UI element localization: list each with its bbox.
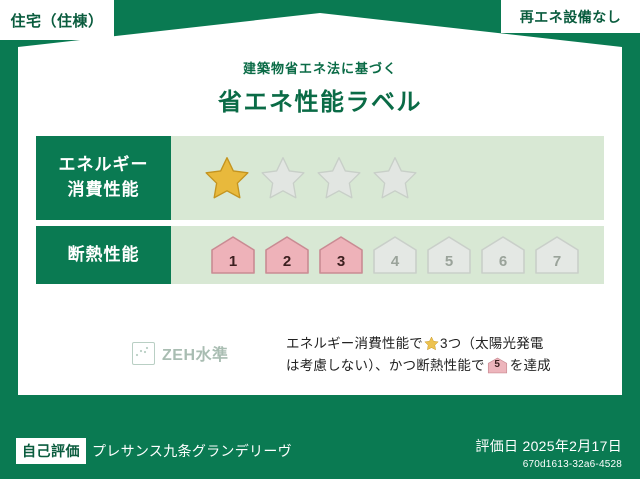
inline-badge-value: 5 [487,357,508,374]
insulation-grade-value: 6 [499,253,507,276]
note-line1-part1: エネルギー消費性能で [286,336,423,351]
note-line2-part1: は考慮しない）、かつ断熱性能で [286,358,485,373]
self-evaluation-badge: 自己評価 [16,438,86,464]
page-title: 省エネ性能ラベル [0,82,640,117]
title-subtitle: 建築物省エネ法に基づく [0,58,640,77]
insulation-grade-badge: 5 [425,234,473,276]
insulation-grade-badge: 4 [371,234,419,276]
evaluation-id: 670d1613-32a6-4528 [475,459,622,470]
insulation-grade-value: 2 [283,253,291,276]
energy-label-line1: エネルギー [59,153,149,178]
zeh-standard-label: ZEH水準 [162,341,229,365]
building-name: プレサンス九条グランデリーヴ [92,441,292,461]
zeh-standard-indicator: ZEH水準 [36,333,272,365]
insulation-grade-value: 7 [553,253,561,276]
star-empty-icon [315,155,363,201]
insulation-performance-label-cell: 断熱性能 [36,226,171,284]
insulation-performance-row: 断熱性能 1234567 [36,226,604,284]
insulation-grade-value: 3 [337,253,345,276]
insulation-label-line1: 断熱性能 [68,243,140,268]
insulation-grade-badge: 3 [317,234,365,276]
insulation-grade-badge: 6 [479,234,527,276]
title-block: 建築物省エネ法に基づく 省エネ性能ラベル [0,58,640,117]
inline-star-icon [424,336,439,351]
insulation-grade-value: 5 [445,253,453,276]
rating-rows: エネルギー 消費性能 断熱性能 1234567 [36,136,604,290]
insulation-grade-badge: 2 [263,234,311,276]
star-empty-icon [259,155,307,201]
evaluation-date: 評価日 2025年2月17日 [475,436,622,456]
insulation-grade-value: 1 [229,253,237,276]
star-filled-icon [203,155,251,201]
footer: 自己評価 プレサンス九条グランデリーヴ 評価日 2025年2月17日 670d1… [0,432,640,479]
energy-performance-label-cell: エネルギー 消費性能 [36,136,171,220]
note-line1-part2: 3つ（太陽光発電 [440,336,544,351]
footer-right: 評価日 2025年2月17日 670d1613-32a6-4528 [475,436,622,470]
energy-performance-label: 住宅（住棟） 再エネ設備なし 建築物省エネ法に基づく 省エネ性能ラベル エネルギ… [0,0,640,479]
insulation-grade-badge: 1 [209,234,257,276]
renewable-equipment-label: 再エネ設備なし [520,7,622,27]
insulation-grade-badge: 7 [533,234,581,276]
dwelling-type-label: 住宅（住棟） [10,10,103,31]
energy-performance-row: エネルギー 消費性能 [36,136,604,220]
note-line2-part2: を達成 [510,358,551,373]
renewable-equipment-tag: 再エネ設備なし [501,0,640,33]
footer-left: 自己評価 プレサンス九条グランデリーヴ [16,438,292,464]
energy-label-line2: 消費性能 [68,178,140,203]
insulation-grade-scale: 1234567 [171,226,604,284]
dwelling-type-tag: 住宅（住棟） [0,0,114,40]
insulation-grade-value: 4 [391,253,399,276]
achievement-description: エネルギー消費性能で3つ（太陽光発電 は考慮しない）、かつ断熱性能で5を達成 [286,333,551,377]
inline-insulation-badge: 5 [487,357,508,374]
star-rating [171,136,604,220]
note-block: ZEH水準 エネルギー消費性能で3つ（太陽光発電 は考慮しない）、かつ断熱性能で… [36,333,604,377]
star-empty-icon [371,155,419,201]
zeh-chart-icon [132,342,155,365]
